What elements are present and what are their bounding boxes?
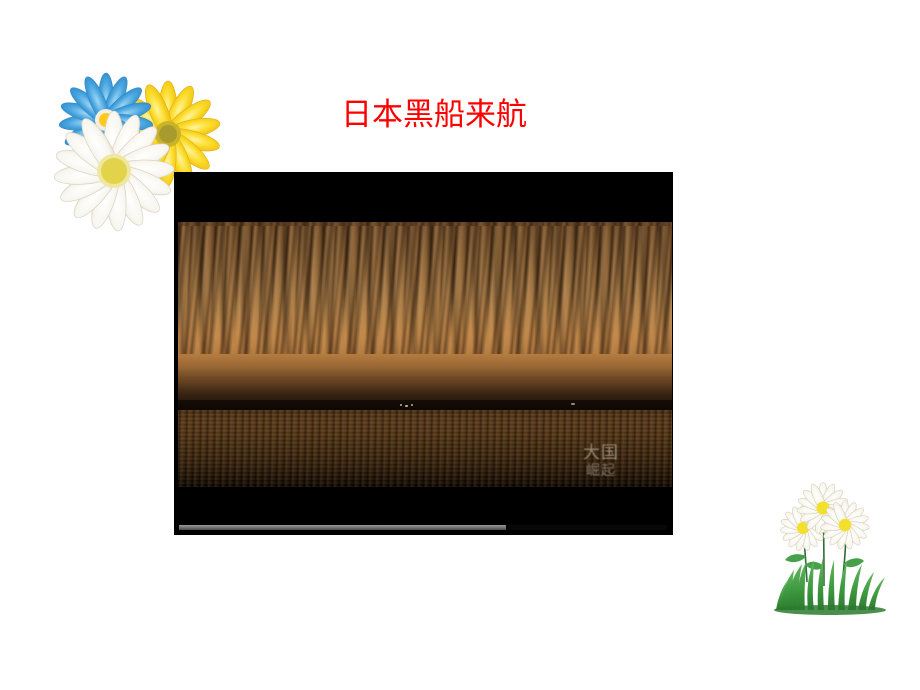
watermark-line-1: 大国 bbox=[558, 443, 644, 462]
page-title: 日本黑船来航 bbox=[341, 96, 527, 134]
white-daisy-head-right bbox=[820, 501, 870, 550]
video-progress-bar[interactable] bbox=[179, 525, 667, 530]
cloud-layer-highlights bbox=[178, 226, 672, 344]
video-progress-fill bbox=[179, 525, 506, 530]
channel-watermark: 大国 崛起 bbox=[558, 443, 644, 483]
grass-tuft bbox=[776, 558, 885, 610]
slide-canvas: 日本黑船来航 bbox=[0, 0, 920, 690]
ship-light-right-icon bbox=[571, 403, 575, 405]
ship-light-left-icon-c bbox=[411, 404, 413, 406]
sunset-seascape-photo: 大国 崛起 bbox=[178, 222, 672, 487]
ship-light-left-icon bbox=[400, 404, 402, 406]
media-video-frame[interactable]: 大国 崛起 bbox=[174, 172, 673, 535]
watermark-line-2: 崛起 bbox=[558, 462, 644, 481]
ship-light-left-icon-b bbox=[405, 405, 408, 407]
distant-shoreline bbox=[178, 400, 672, 410]
decoration-bottom-right-daisies-grass bbox=[772, 482, 907, 617]
